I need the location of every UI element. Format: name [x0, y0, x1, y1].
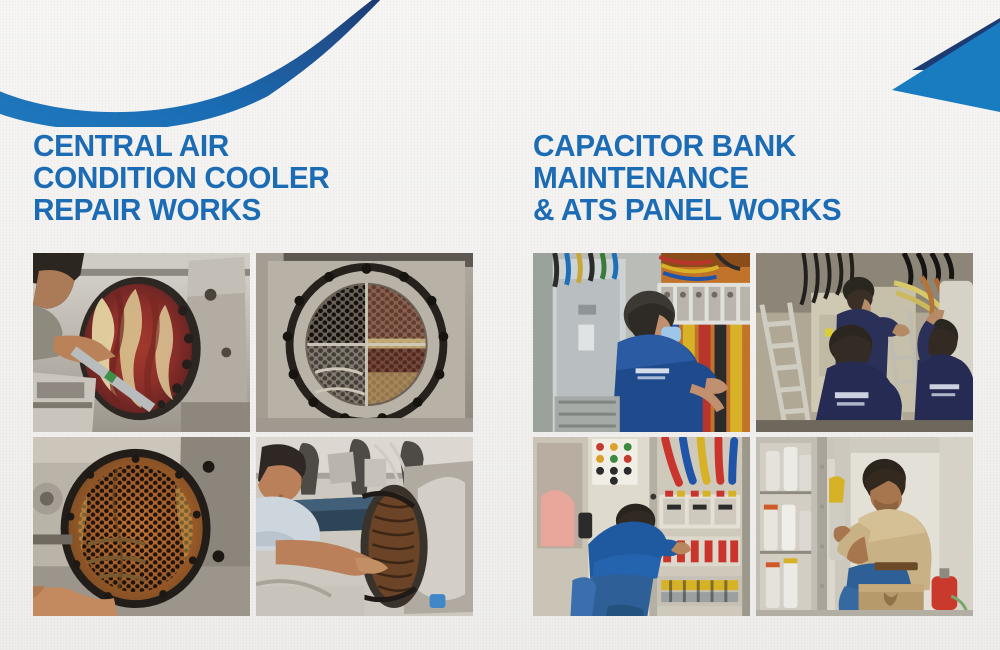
- photo-chiller-tube-sheet-honeycomb: [256, 253, 473, 432]
- photo-technician-cleaning-tube-sheet: [33, 253, 250, 432]
- section-central-air-condition-cooler: CENTRAL AIR CONDITION COOLER REPAIR WORK…: [33, 130, 473, 226]
- photo-worker-servicing-end-cover: [256, 437, 473, 616]
- photo-three-technicians-cable-work: [756, 253, 973, 432]
- section-capacitor-bank-ats-panel: CAPACITOR BANK MAINTENANCE & ATS PANEL W…: [533, 130, 973, 226]
- page-title-right: CAPACITOR BANK MAINTENANCE & ATS PANEL W…: [533, 130, 955, 226]
- page-title-left: CENTRAL AIR CONDITION COOLER REPAIR WORK…: [33, 130, 455, 226]
- photo-rusted-tube-sheet-open: [33, 437, 250, 616]
- photo-grid-right: [533, 253, 973, 616]
- photo-technician-at-ats-panel: [533, 437, 750, 616]
- photo-grid-left: [33, 253, 473, 616]
- photo-technician-with-capacitor-bank: [756, 437, 973, 616]
- photo-technician-at-busbar-panel: [533, 253, 750, 432]
